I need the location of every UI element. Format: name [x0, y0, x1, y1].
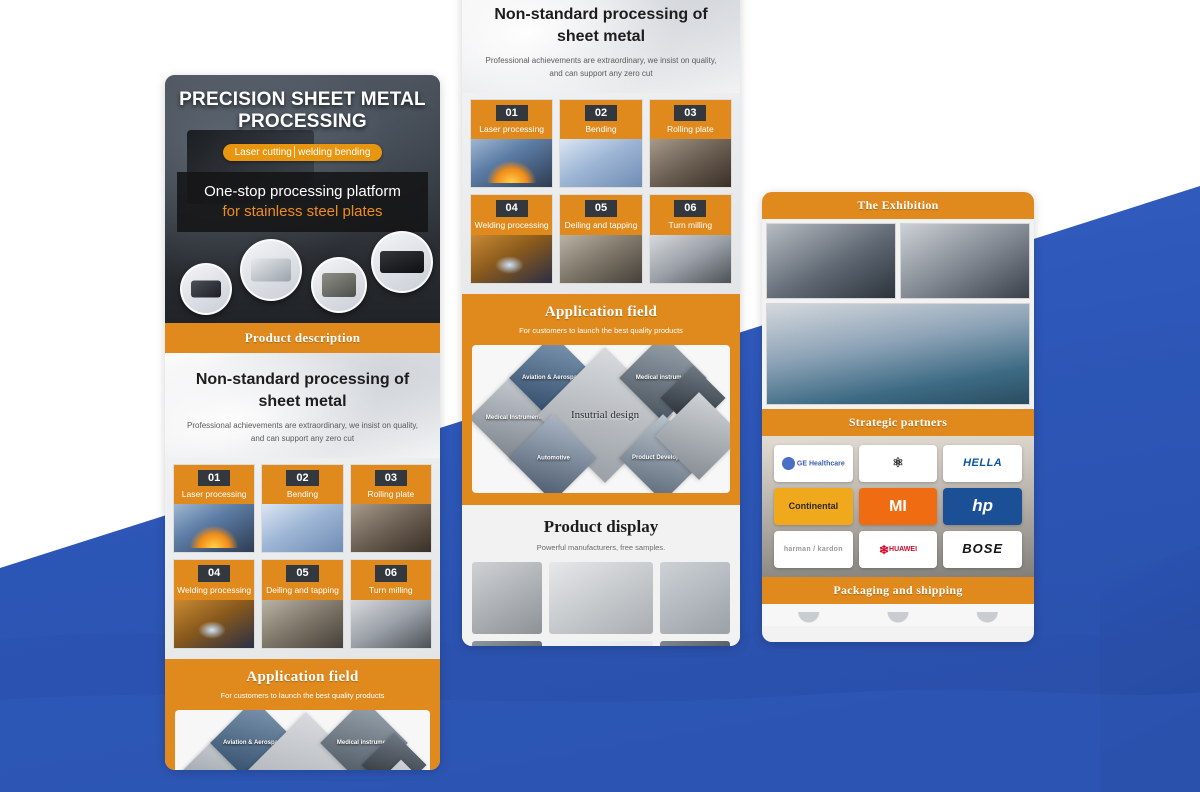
process-card[interactable]: 02 Bending [261, 464, 343, 553]
partner-logo-hella[interactable]: HELLA [943, 445, 1022, 482]
application-field-title: Application field [462, 304, 740, 321]
process-card-header: 01 Laser processing [471, 100, 552, 139]
hero-product-circles [165, 239, 440, 317]
jucheng-logo: JC JUCHENG PRECISION [549, 641, 653, 646]
process-card-header: 06 Turn milling [351, 560, 431, 599]
process-label: Bending [562, 124, 639, 134]
application-field-title: Application field [165, 669, 440, 686]
process-card[interactable]: 03 Rolling plate [350, 464, 432, 553]
process-card-header: 02 Bending [560, 100, 641, 139]
packaging-preview [762, 604, 1034, 626]
partner-logo-bose[interactable]: BOSE [943, 531, 1022, 568]
product-display-grid: JC JUCHENG PRECISION [462, 552, 740, 646]
product-display-subtitle: Powerful manufacturers, free samples. [462, 543, 740, 552]
hero-product-circle-2 [240, 239, 302, 301]
process-number: 04 [496, 200, 528, 216]
product-image-1[interactable] [472, 562, 542, 634]
exhibition-photo-workshop[interactable] [766, 303, 1030, 405]
process-card-header: 05 Deiling and tapping [262, 560, 342, 599]
process-card-header: 04 Welding processing [174, 560, 254, 599]
section-bar-strategic-partners: Strategic partners [762, 409, 1034, 436]
process-card[interactable]: 05 Deiling and tapping [559, 194, 642, 283]
product-display-section: Product display Powerful manufacturers, … [462, 505, 740, 646]
application-field-section: Application field For customers to launc… [462, 294, 740, 505]
process-label: Welding processing [473, 220, 550, 230]
process-number: 04 [198, 565, 230, 581]
process-card[interactable]: 01 Laser processing [470, 99, 553, 188]
process-number: 01 [198, 470, 230, 486]
process-image-milling [351, 600, 431, 648]
process-number: 03 [375, 470, 407, 486]
process-image-laser [174, 504, 254, 552]
product-image-2[interactable] [549, 562, 653, 634]
exhibition-photo-1[interactable] [766, 223, 896, 299]
partner-logo-harman-kardon[interactable]: harman / kardon [774, 531, 853, 568]
process-card-header: 03 Rolling plate [351, 465, 431, 504]
hero-title: PRECISION SHEET METAL PROCESSING [177, 89, 428, 134]
partners-grid: GE Healthcare Bentley⚛ HELLA Continental… [774, 445, 1022, 568]
process-label: Bending [264, 489, 340, 499]
process-label: Laser processing [176, 489, 252, 499]
hero-slogan-line2: for stainless steel plates [183, 202, 422, 222]
hero-pill-badge: Laser cutting│welding bending [223, 144, 383, 161]
process-card[interactable]: 06 Turn milling [649, 194, 732, 283]
partner-logo-hp[interactable]: hp [943, 488, 1022, 525]
process-image-welding [174, 600, 254, 648]
process-number: 02 [286, 470, 318, 486]
process-image-bending [262, 504, 342, 552]
panel-middle[interactable]: Non-standard processing of sheet metal P… [462, 0, 740, 646]
process-number: 02 [585, 105, 617, 121]
application-field-subtitle: For customers to launch the best quality… [165, 691, 440, 700]
hero-slogan-line1: One-stop processing platform [183, 182, 422, 202]
process-image-drilling [262, 600, 342, 648]
process-card[interactable]: 04 Welding processing [470, 194, 553, 283]
process-image-milling [650, 235, 731, 283]
panel-right[interactable]: The Exhibition Strategic partners GE Hea… [762, 192, 1034, 642]
description-title: Non-standard processing of sheet metal [478, 4, 724, 47]
process-number: 05 [585, 200, 617, 216]
process-number: 06 [375, 565, 407, 581]
process-card-header: 06 Turn milling [650, 195, 731, 234]
process-card[interactable]: 02 Bending [559, 99, 642, 188]
process-label: Rolling plate [652, 124, 729, 134]
description-block: Non-standard processing of sheet metal P… [165, 353, 440, 458]
panel-left[interactable]: PRECISION SHEET METAL PROCESSING Laser c… [165, 75, 440, 770]
partner-logo-continental[interactable]: Continental [774, 488, 853, 525]
product-display-title: Product display [462, 517, 740, 537]
process-label: Welding processing [176, 585, 252, 595]
process-card-header: 04 Welding processing [471, 195, 552, 234]
hero-product-circle-1 [180, 263, 232, 315]
hero-product-circle-4 [371, 231, 433, 293]
process-card[interactable]: 01 Laser processing [173, 464, 255, 553]
application-diamond-board: Medical Instrument Aviation & Aerospace … [472, 345, 730, 493]
product-image-4[interactable] [472, 641, 542, 646]
process-number: 03 [674, 105, 706, 121]
application-field-section: Application field For customers to launc… [165, 659, 440, 770]
application-diamond-board: Medical Instrument Aviation & Aerospace … [175, 710, 430, 770]
process-label: Deiling and tapping [562, 220, 639, 230]
process-card-header: 02 Bending [262, 465, 342, 504]
process-card-header: 01 Laser processing [174, 465, 254, 504]
process-image-rolling [650, 139, 731, 187]
process-number: 06 [674, 200, 706, 216]
partner-logo-bentley[interactable]: Bentley⚛ [859, 445, 938, 482]
partner-logo-ge-healthcare[interactable]: GE Healthcare [774, 445, 853, 482]
process-card[interactable]: 06 Turn milling [350, 559, 432, 648]
process-image-welding [471, 235, 552, 283]
process-card[interactable]: 04 Welding processing [173, 559, 255, 648]
exhibition-photo-grid [762, 219, 1034, 303]
process-image-rolling [351, 504, 431, 552]
product-image-3[interactable] [660, 562, 730, 634]
hero-banner: PRECISION SHEET METAL PROCESSING Laser c… [165, 75, 440, 323]
process-image-drilling [560, 235, 641, 283]
exhibition-photo-2[interactable] [900, 223, 1030, 299]
process-image-bending [560, 139, 641, 187]
hero-product-circle-3 [311, 257, 367, 313]
hero-slogan-band: One-stop processing platform for stainle… [177, 172, 428, 233]
application-field-subtitle: For customers to launch the best quality… [462, 326, 740, 335]
process-image-laser [471, 139, 552, 187]
description-subtitle: Professional achievements are extraordin… [478, 55, 724, 81]
description-title: Non-standard processing of sheet metal [181, 369, 424, 412]
process-label: Turn milling [353, 585, 429, 595]
process-label: Deiling and tapping [264, 585, 340, 595]
description-subtitle: Professional achievements are extraordin… [181, 420, 424, 446]
product-image-6[interactable] [660, 641, 730, 646]
process-label: Turn milling [652, 220, 729, 230]
process-card[interactable]: 05 Deiling and tapping [261, 559, 343, 648]
process-label: Rolling plate [353, 489, 429, 499]
description-block: Non-standard processing of sheet metal P… [462, 0, 740, 93]
process-grid: 01 Laser processing 02 Bending 03 Rollin… [462, 93, 740, 294]
process-card-header: 05 Deiling and tapping [560, 195, 641, 234]
section-bar-product-description: Product description [165, 323, 440, 353]
partners-section: GE Healthcare Bentley⚛ HELLA Continental… [762, 436, 1034, 577]
partner-logo-mi[interactable]: MI [859, 488, 938, 525]
process-label: Laser processing [473, 124, 550, 134]
section-bar-packaging-shipping: Packaging and shipping [762, 577, 1034, 604]
process-card[interactable]: 03 Rolling plate [649, 99, 732, 188]
process-grid: 01 Laser processing 02 Bending 03 Rollin… [165, 458, 440, 659]
process-number: 01 [496, 105, 528, 121]
section-bar-exhibition: The Exhibition [762, 192, 1034, 219]
process-number: 05 [286, 565, 318, 581]
partner-logo-huawei[interactable]: ❄HUAWEI [859, 531, 938, 568]
process-card-header: 03 Rolling plate [650, 100, 731, 139]
